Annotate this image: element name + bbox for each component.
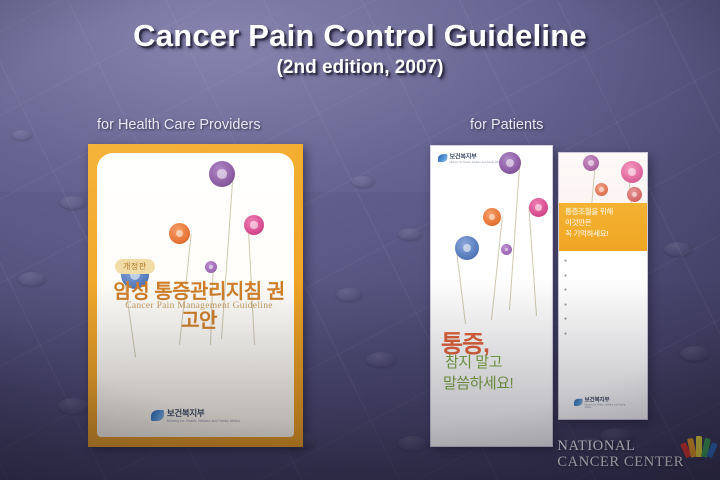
- flower-orange: [169, 223, 190, 244]
- pamphlet-headline-1: 통증조절을 위해: [565, 207, 641, 218]
- book-edition-badge: 개정판: [115, 259, 155, 274]
- book-subtitle-en: Cancer Pain Management Guideline: [111, 301, 287, 311]
- mohw-name: 보건복지부: [585, 395, 633, 403]
- ncc-ribbon-icon: [686, 435, 712, 457]
- bullet-dot-icon: ●: [564, 330, 567, 340]
- background-bump: [680, 346, 710, 361]
- flower-blue: [455, 236, 479, 260]
- title-block: Cancer Pain Control Guideline (2nd editi…: [0, 18, 720, 79]
- mohw-logo: 보건복지부 Ministry for Health, Welfare and F…: [574, 395, 632, 408]
- bullet-text: [569, 286, 642, 296]
- background-bump: [352, 176, 374, 187]
- flower-pink: [529, 198, 548, 217]
- background-bump: [60, 196, 86, 209]
- bullet-text: [569, 301, 642, 311]
- mohw-swoosh-icon: [151, 410, 164, 421]
- pamphlet-headline-3: 꼭 기억하세요!: [565, 229, 641, 240]
- mohw-logo: 보건복지부 Ministry for Health, Welfare and F…: [438, 152, 502, 164]
- patient-pamphlet[interactable]: 통증조절을 위해 이것만은 꼭 기억하세요! ● ● ● ● ● ● 보건복지부…: [558, 152, 648, 420]
- pamphlet-headline-1-rest: 을 위해: [591, 207, 613, 216]
- list-item: ●: [564, 286, 642, 296]
- flower-stem: [528, 206, 537, 316]
- pamphlet-publisher-logo: 보건복지부 Ministry for Health, Welfare and F…: [574, 395, 632, 408]
- mohw-swoosh-icon: [438, 154, 447, 162]
- background-bump: [12, 130, 32, 140]
- flower-small-purple: [501, 244, 512, 255]
- flower-coral: [595, 183, 608, 196]
- caption-health-care-providers: for Health Care Providers: [97, 117, 261, 133]
- ncc-line-1: NATIONAL: [557, 438, 684, 454]
- bullet-dot-icon: ●: [564, 286, 567, 296]
- list-item: ●: [564, 272, 642, 282]
- mohw-name: 보건복지부: [450, 152, 503, 161]
- guideline-book-cover[interactable]: 개정판 암성 통증관리지침 권고안 Cancer Pain Management…: [88, 144, 303, 447]
- page-subtitle: (2nd edition, 2007): [0, 57, 720, 79]
- bullet-text: [569, 315, 642, 325]
- book-publisher-logo: 보건복지부 Ministry for Health, Welfare and F…: [97, 407, 294, 423]
- background-bump: [366, 352, 396, 367]
- pamphlet-headline-keyword: 통증조절: [565, 207, 591, 216]
- background-bump: [398, 436, 428, 451]
- mohw-logo: 보건복지부 Ministry for Health, Welfare and F…: [151, 407, 240, 423]
- caption-patients: for Patients: [470, 117, 543, 133]
- mohw-name-en: Ministry for Health, Welfare and Family …: [585, 403, 633, 408]
- bullet-dot-icon: ●: [564, 257, 567, 267]
- national-cancer-center-logo: NATIONAL CANCER CENTER: [557, 438, 712, 470]
- mohw-logo-text: 보건복지부 Ministry for Health, Welfare and F…: [585, 395, 633, 408]
- list-item: ●: [564, 330, 642, 340]
- mohw-name: 보건복지부: [167, 407, 240, 419]
- flower-pink: [621, 161, 643, 183]
- flower-stem: [491, 217, 503, 321]
- background-bump: [336, 288, 362, 301]
- brochure-headline-2: 참지 말고: [445, 351, 502, 372]
- flower-rose: [627, 187, 642, 202]
- mohw-name-en: Ministry for Health, Welfare and Family …: [167, 419, 240, 423]
- flower-stem: [509, 160, 521, 310]
- flower-purple: [583, 155, 599, 171]
- pamphlet-headline-2: 이것만은: [565, 218, 641, 229]
- flower-purple: [499, 152, 521, 174]
- flower-small-purple: [205, 261, 217, 273]
- book-cover-inner: 개정판 암성 통증관리지침 권고안 Cancer Pain Management…: [97, 153, 294, 437]
- mohw-swoosh-icon: [574, 398, 583, 405]
- bullet-text: [569, 272, 642, 282]
- flower-orange: [483, 208, 501, 226]
- mohw-logo-text: 보건복지부 Ministry for Health, Welfare and F…: [450, 152, 503, 164]
- brochure-publisher-logo: 보건복지부 Ministry for Health, Welfare and F…: [438, 152, 502, 164]
- brochure-headline-3: 말씀하세요!: [443, 372, 513, 393]
- page-title: Cancer Pain Control Guideline: [0, 18, 720, 54]
- pamphlet-headline-band: 통증조절을 위해 이것만은 꼭 기억하세요!: [559, 203, 647, 251]
- background-bump: [58, 398, 90, 414]
- bullet-dot-icon: ●: [564, 301, 567, 311]
- bullet-dot-icon: ●: [564, 315, 567, 325]
- mohw-name-en: Ministry for Health, Welfare and Family …: [450, 161, 503, 164]
- pamphlet-header-image: [559, 153, 647, 205]
- mohw-logo-text: 보건복지부 Ministry for Health, Welfare and F…: [167, 407, 240, 423]
- bullet-text: [569, 257, 642, 267]
- slide-canvas: Cancer Pain Control Guideline (2nd editi…: [0, 0, 720, 480]
- bullet-text: [569, 330, 642, 340]
- background-bump: [398, 228, 422, 240]
- pamphlet-bullet-list: ● ● ● ● ● ●: [559, 253, 647, 395]
- bullet-dot-icon: ●: [564, 272, 567, 282]
- flower-pink: [244, 215, 264, 235]
- background-bump: [18, 272, 46, 286]
- ncc-line-2: CANCER CENTER: [557, 454, 684, 470]
- background-bump: [664, 242, 692, 256]
- patient-brochure[interactable]: 보건복지부 Ministry for Health, Welfare and F…: [430, 145, 553, 447]
- list-item: ●: [564, 257, 642, 267]
- ncc-wordmark: NATIONAL CANCER CENTER: [557, 438, 684, 470]
- list-item: ●: [564, 315, 642, 325]
- list-item: ●: [564, 301, 642, 311]
- flower-purple: [209, 161, 235, 187]
